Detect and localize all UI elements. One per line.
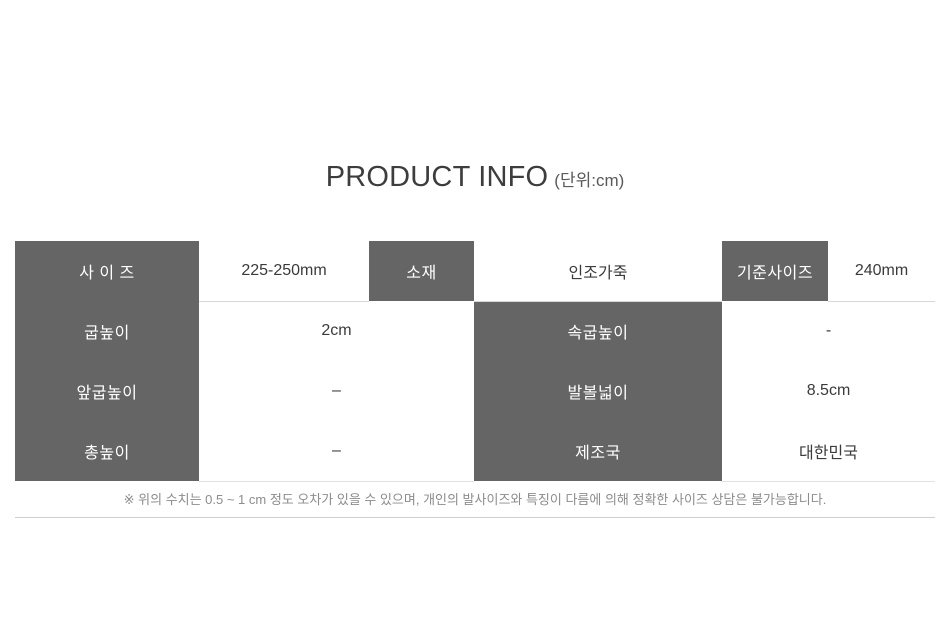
spec-label-size: 사 이 즈 — [15, 241, 199, 301]
page-title-main: PRODUCT INFO — [326, 161, 549, 193]
spec-value-country-of-origin: 대한민국 — [722, 421, 935, 481]
product-info-page: PRODUCT INFO(단위:cm) 사 이 즈 225-250mm 소재 인… — [0, 0, 950, 644]
product-spec-table: 사 이 즈 225-250mm 소재 인조가죽 기준사이즈 240mm 굽높이 … — [15, 241, 935, 482]
spec-label-country-of-origin: 제조국 — [474, 421, 722, 481]
spec-label-inner-heel-height: 속굽높이 — [474, 301, 722, 361]
table-row: 앞굽높이 – 발볼넓이 8.5cm — [15, 361, 935, 421]
table-row: 총높이 – 제조국 대한민국 — [15, 421, 935, 481]
spec-label-heel-height: 굽높이 — [15, 301, 199, 361]
spec-value-inner-heel-height: - — [722, 301, 935, 361]
spec-value-heel-height: 2cm — [199, 301, 474, 361]
spec-value-front-heel-height: – — [199, 361, 474, 421]
spec-label-material: 소재 — [369, 241, 474, 301]
spec-label-total-height: 총높이 — [15, 421, 199, 481]
table-row: 사 이 즈 225-250mm 소재 인조가죽 기준사이즈 240mm — [15, 241, 935, 301]
spec-label-toe-width: 발볼넓이 — [474, 361, 722, 421]
spec-label-standard-size: 기준사이즈 — [722, 241, 828, 301]
spec-value-standard-size: 240mm — [828, 241, 935, 301]
spec-label-front-heel-height: 앞굽높이 — [15, 361, 199, 421]
spec-value-material: 인조가죽 — [474, 241, 722, 301]
spec-value-total-height: – — [199, 421, 474, 481]
page-title: PRODUCT INFO(단위:cm) — [0, 161, 950, 194]
table-row: 굽높이 2cm 속굽높이 - — [15, 301, 935, 361]
spec-value-size: 225-250mm — [199, 241, 369, 301]
page-title-unit: (단위:cm) — [554, 171, 624, 190]
spec-value-toe-width: 8.5cm — [722, 361, 935, 421]
size-tolerance-note: ※ 위의 수치는 0.5 ~ 1 cm 정도 오차가 있을 수 있으며, 개인의… — [15, 482, 935, 518]
